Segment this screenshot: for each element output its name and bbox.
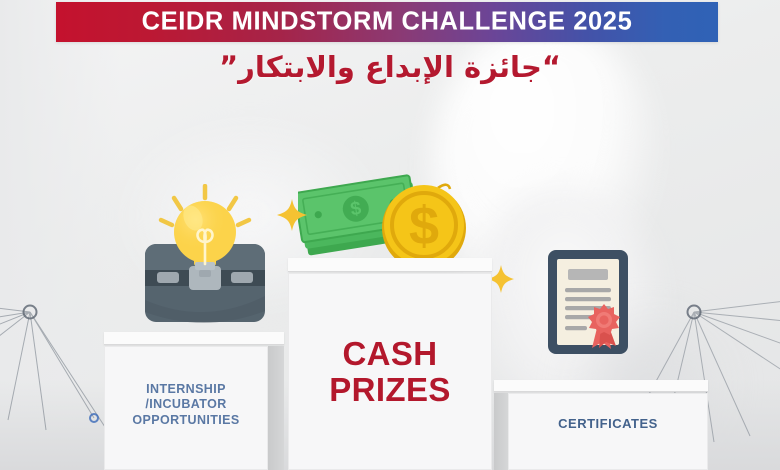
header-banner: CEIDR MINDSTORM CHALLENGE 2025 [56,2,718,42]
briefcase-lightbulb-icon [133,184,277,326]
podium-cap-center [288,258,492,272]
podium-label-certificates: CERTIFICATES [508,416,708,432]
podium-label-internship: INTERNSHIP /INCUBATOR OPPORTUNITIES [104,382,268,428]
podium-label-cash: CASH PRIZES [288,336,492,407]
podium-side-left [268,346,284,470]
podium-side-right [494,393,508,470]
certificate-icon [546,248,630,356]
svg-text:$: $ [409,196,439,256]
podium-cap-left [104,332,284,345]
arabic-subtitle: “جائزة الإبداع والابتكار” [0,50,780,84]
podium-block-cash: CASH PRIZES [288,258,492,470]
poster-canvas: CEIDR MINDSTORM CHALLENGE 2025 “جائزة ال… [0,0,780,470]
podium-block-internship: INTERNSHIP /INCUBATOR OPPORTUNITIES [104,332,284,470]
sparkle-icon-left [276,198,308,232]
podium-cap-right [494,380,708,392]
podium-block-certificates: CERTIFICATES [494,380,708,470]
banner-title: CEIDR MINDSTORM CHALLENGE 2025 [56,8,718,37]
